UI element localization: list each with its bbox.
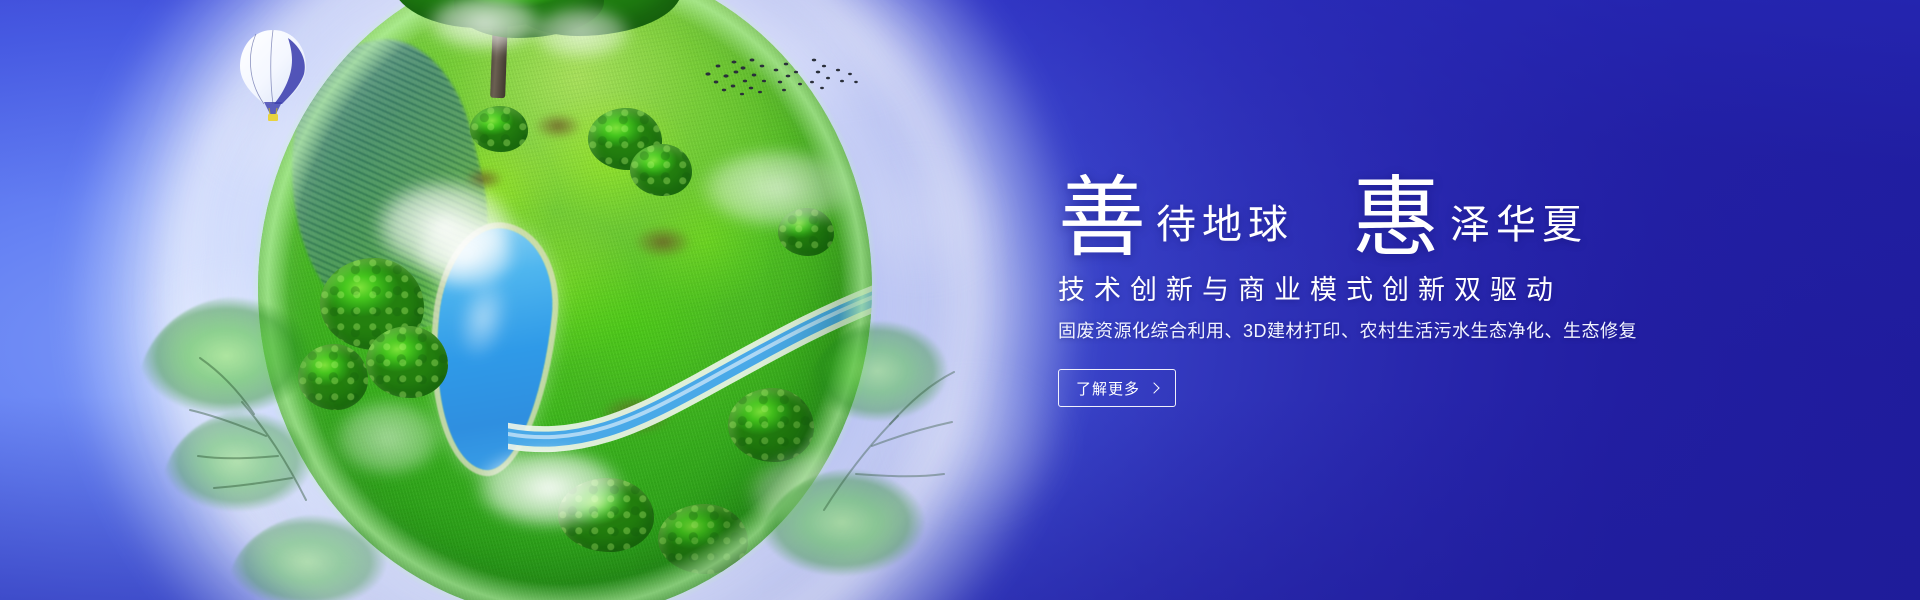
headline-text-daidiqiu: 待地球 [1156,205,1294,245]
headline-char-hui: 惠 [1352,178,1440,262]
headline-text-zehuaxia: 泽华夏 [1450,205,1588,245]
tree [384,0,714,148]
headline-part-2: 惠 泽华夏 [1352,172,1588,256]
description: 固废资源化综合利用、3D建材打印、农村生活污水生态净化、生态修复 [1058,317,1758,343]
bird-flock [700,48,865,112]
hot-air-balloon [236,28,310,124]
headline-part-1: 善 待地球 [1058,172,1294,256]
learn-more-label: 了解更多 [1076,378,1140,399]
banner-content: 善 待地球 惠 泽华夏 技术创新与商业模式创新双驱动 固废资源化综合利用、3D建… [1058,140,1758,407]
cloud-puff [516,0,646,68]
bare-branch [146,310,366,510]
learn-more-button[interactable]: 了解更多 [1058,369,1176,407]
subtitle: 技术创新与商业模式创新双驱动 [1058,268,1758,307]
headline-char-shan: 善 [1058,178,1146,262]
hero-banner: 善 待地球 惠 泽华夏 技术创新与商业模式创新双驱动 固废资源化综合利用、3D建… [0,0,1920,600]
page-title: 善 待地球 惠 泽华夏 [1058,140,1758,256]
chevron-right-icon [1148,382,1159,393]
bare-branch [794,330,994,520]
